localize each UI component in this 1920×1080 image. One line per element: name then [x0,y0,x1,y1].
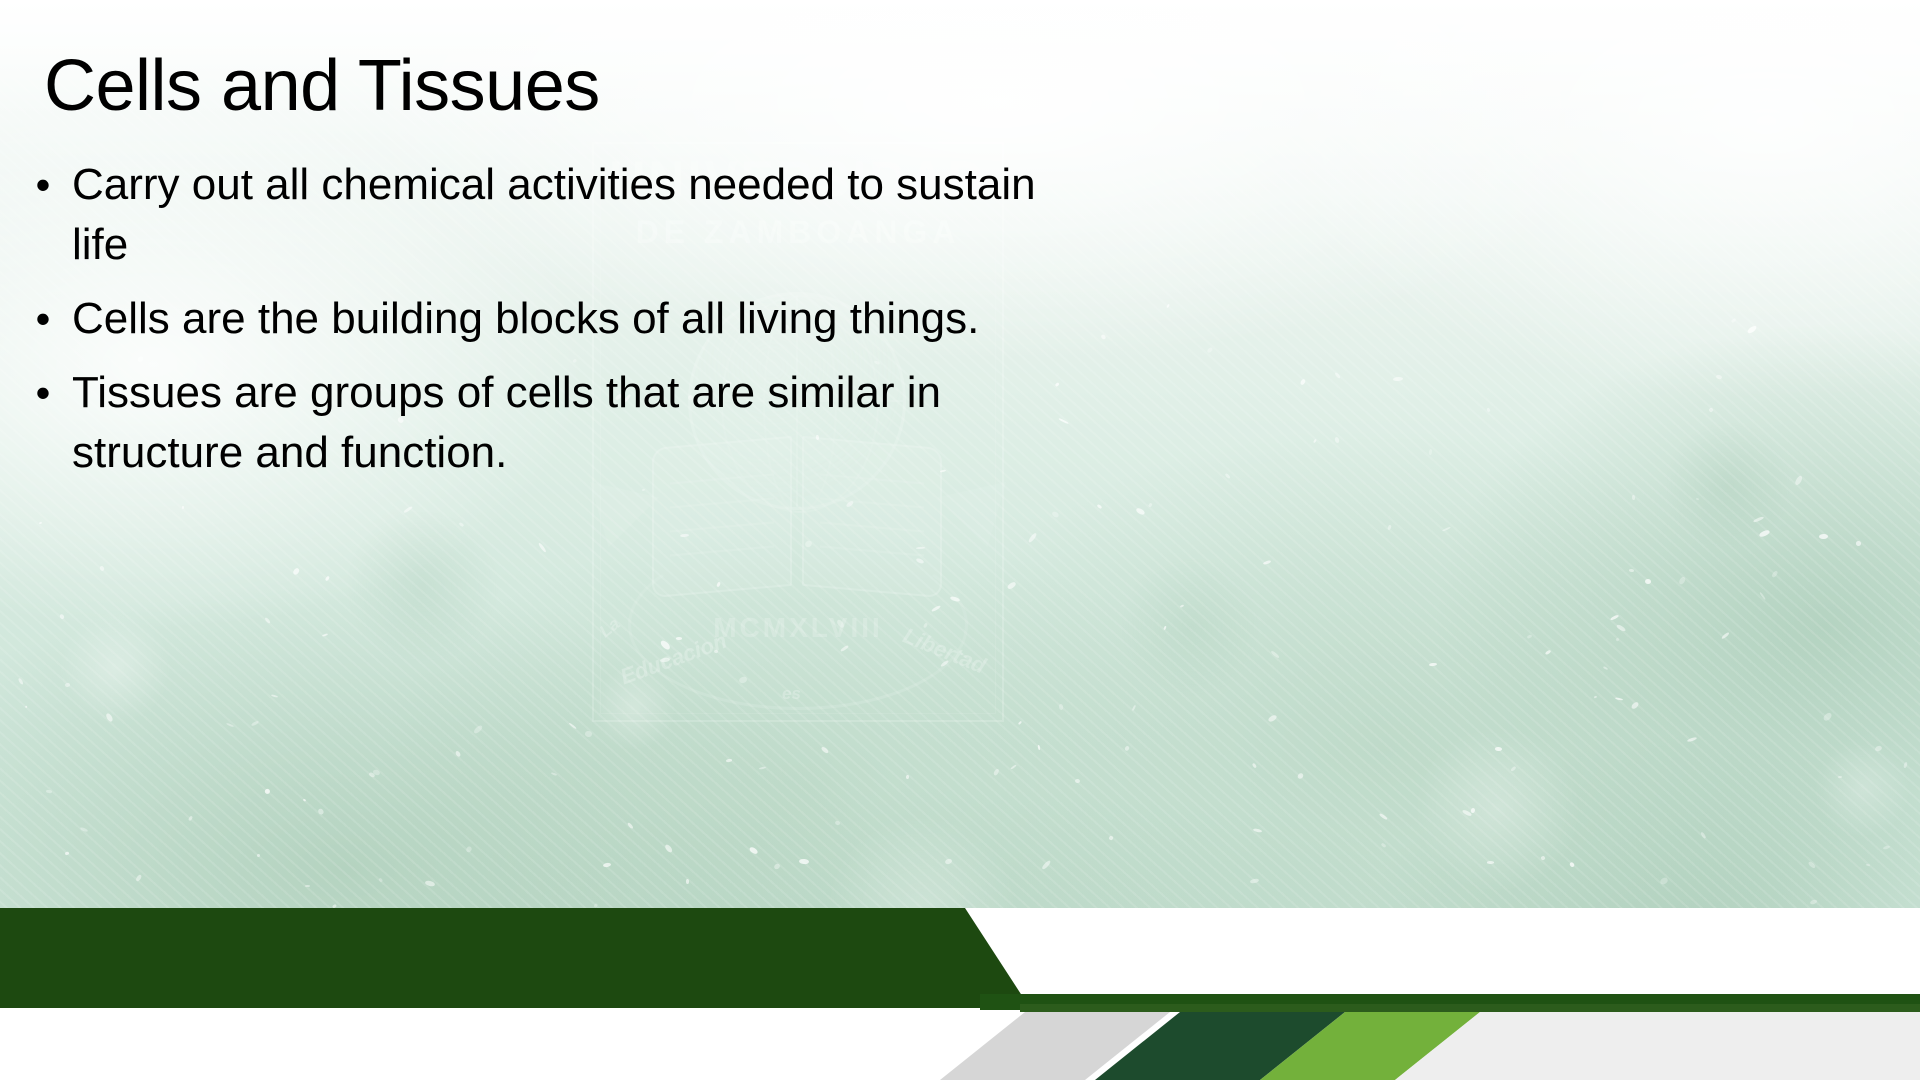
background-fleck [1252,828,1262,833]
background-fleck [1630,701,1639,710]
deco-dark-green-band [0,908,1030,1008]
background-fleck [1442,526,1452,532]
background-fleck [798,859,808,865]
background-fleck [225,722,233,727]
bullet-item: •Tissues are groups of cells that are si… [14,363,1094,483]
background-fleck [292,567,300,576]
seal-motto-word-es: es [782,684,801,704]
background-fleck [1903,762,1907,768]
background-fleck [748,846,758,855]
background-fleck [1429,662,1438,666]
background-fleck [1866,864,1871,867]
background-fleck [251,721,259,727]
background-fleck [1252,762,1258,768]
background-fleck [1540,855,1546,860]
background-fleck [1297,772,1305,780]
background-fleck [182,506,184,509]
background-fleck [466,846,473,853]
background-fleck [1758,529,1770,538]
background-fleck [1041,860,1051,871]
background-fleck [1380,843,1385,848]
bullet-text: Carry out all chemical activities needed… [72,155,1094,275]
background-fleck [759,766,767,770]
slide-bottom-decoration [0,908,1920,1080]
background-fleck [1822,712,1832,722]
background-fleck [1224,473,1230,479]
background-fleck [38,522,42,525]
background-fleck [1746,325,1757,335]
background-fleck [1594,696,1598,699]
background-fleck [1486,408,1490,413]
background-fleck [992,768,999,776]
slide-body-bullet-list: •Carry out all chemical activities neede… [14,155,1094,497]
background-fleck [1334,437,1340,444]
background-fleck [317,808,324,815]
background-fleck [1059,703,1064,709]
background-fleck [1148,503,1152,507]
background-fleck [1108,835,1113,840]
background-fleck [1179,605,1184,609]
background-fleck [1721,631,1730,640]
background-fleck [834,821,840,827]
background-fleck [264,788,271,795]
background-fleck [378,877,383,882]
bullet-marker-icon: • [14,289,72,349]
background-fleck [1387,525,1392,531]
background-fleck [1299,378,1305,385]
background-fleck [1166,304,1170,309]
background-fleck [593,903,598,908]
background-fleck [1263,560,1271,565]
background-fleck [1615,624,1626,633]
bullet-text: Tissues are groups of cells that are sim… [72,363,1094,483]
background-fleck [1074,779,1079,784]
bullet-item: •Cells are the building blocks of all li… [14,289,1094,349]
background-fleck [1136,507,1146,516]
background-fleck [1882,845,1889,850]
background-fleck [322,633,328,637]
background-fleck [1610,614,1620,621]
background-fleck [1428,449,1431,455]
bullet-text: Cells are the building blocks of all liv… [72,289,1094,349]
background-fleck [1526,634,1532,639]
deco-thin-green-strip-secondary [1020,1004,1920,1012]
background-fleck [1603,666,1608,670]
background-fleck [1037,745,1040,750]
background-fleck [1632,495,1636,500]
background-fleck [135,874,142,882]
deco-stripe-gray-pale [1395,1012,1920,1080]
background-fleck [1678,575,1686,585]
background-fleck [1659,876,1669,885]
background-fleck [46,789,52,793]
background-fleck [1759,592,1766,601]
background-fleck [1696,498,1699,501]
background-fleck [1708,407,1714,413]
background-fleck [1096,504,1102,509]
background-fleck [627,822,633,829]
background-fleck [1731,318,1737,324]
background-fleck [1809,899,1817,905]
presentation-slide: UNIVERSIDAD DE ZAMBOANGA MCMXLVIII [0,0,1920,1080]
background-fleck [1687,737,1698,743]
background-fleck [1027,532,1036,543]
background-fleck [686,879,689,884]
background-fleck [1614,697,1623,701]
background-fleck [1716,374,1723,380]
background-fleck [773,863,781,870]
background-fleck [1052,511,1060,519]
background-fleck [1164,625,1168,629]
background-fleck [1007,581,1017,590]
background-fleck [1495,746,1502,750]
seal-motto-ribbon: La Educacion es Libertad [602,580,994,710]
background-fleck [1771,570,1778,578]
background-fleck [906,775,909,779]
background-fleck [1267,714,1277,723]
background-fleck [821,746,829,754]
background-fleck [472,725,483,735]
background-fleck [1838,776,1842,778]
background-fleck [99,565,105,571]
background-fleck [1629,569,1635,573]
background-fleck [1701,831,1707,838]
background-fleck [1379,813,1388,820]
background-fleck [1124,746,1130,753]
background-fleck [663,843,673,853]
background-fleck [106,713,115,723]
background-fleck [264,617,271,625]
background-fleck [18,678,25,686]
background-fleck [1874,745,1883,753]
background-fleck [1100,334,1106,340]
background-fleck [945,858,953,865]
background-fleck [1753,516,1764,523]
background-fleck [1616,637,1620,641]
background-fleck [79,827,87,833]
background-fleck [1334,371,1341,379]
background-fleck [1487,861,1494,864]
bullet-marker-icon: • [14,363,72,423]
background-fleck [271,694,278,698]
background-fleck [1569,861,1576,868]
slide-title: Cells and Tissues [44,48,600,126]
background-fleck [726,759,733,763]
bullet-item: •Carry out all chemical activities neede… [14,155,1094,275]
background-fleck [65,851,69,854]
background-fleck [188,815,193,821]
background-fleck [602,862,611,867]
background-fleck [1808,861,1816,869]
background-fleck [1270,650,1280,659]
background-fleck [1510,766,1516,772]
background-fleck [1010,764,1017,770]
background-fleck [1393,377,1404,382]
background-fleck [568,723,577,731]
background-fleck [325,575,330,580]
background-fleck [305,885,310,887]
background-fleck [25,706,28,709]
background-fleck [425,880,436,887]
background-fleck [458,522,464,527]
background-fleck [1018,721,1022,725]
background-fleck [1544,650,1550,655]
background-fleck [455,750,462,757]
background-fleck [1313,438,1317,442]
background-fleck [1132,705,1137,711]
background-fleck [538,542,547,552]
background-fleck [1819,534,1828,539]
background-fleck [1249,878,1259,884]
bullet-marker-icon: • [14,155,72,215]
background-fleck [584,730,592,737]
background-fleck [303,799,306,802]
background-fleck [551,772,557,776]
background-fleck [1644,579,1650,585]
background-fleck [1856,540,1862,545]
background-fleck [59,613,65,620]
background-fleck [257,854,260,857]
background-fleck [1794,475,1804,486]
background-fleck [65,683,70,688]
background-fleck [1206,346,1213,353]
background-fleck [403,505,413,513]
